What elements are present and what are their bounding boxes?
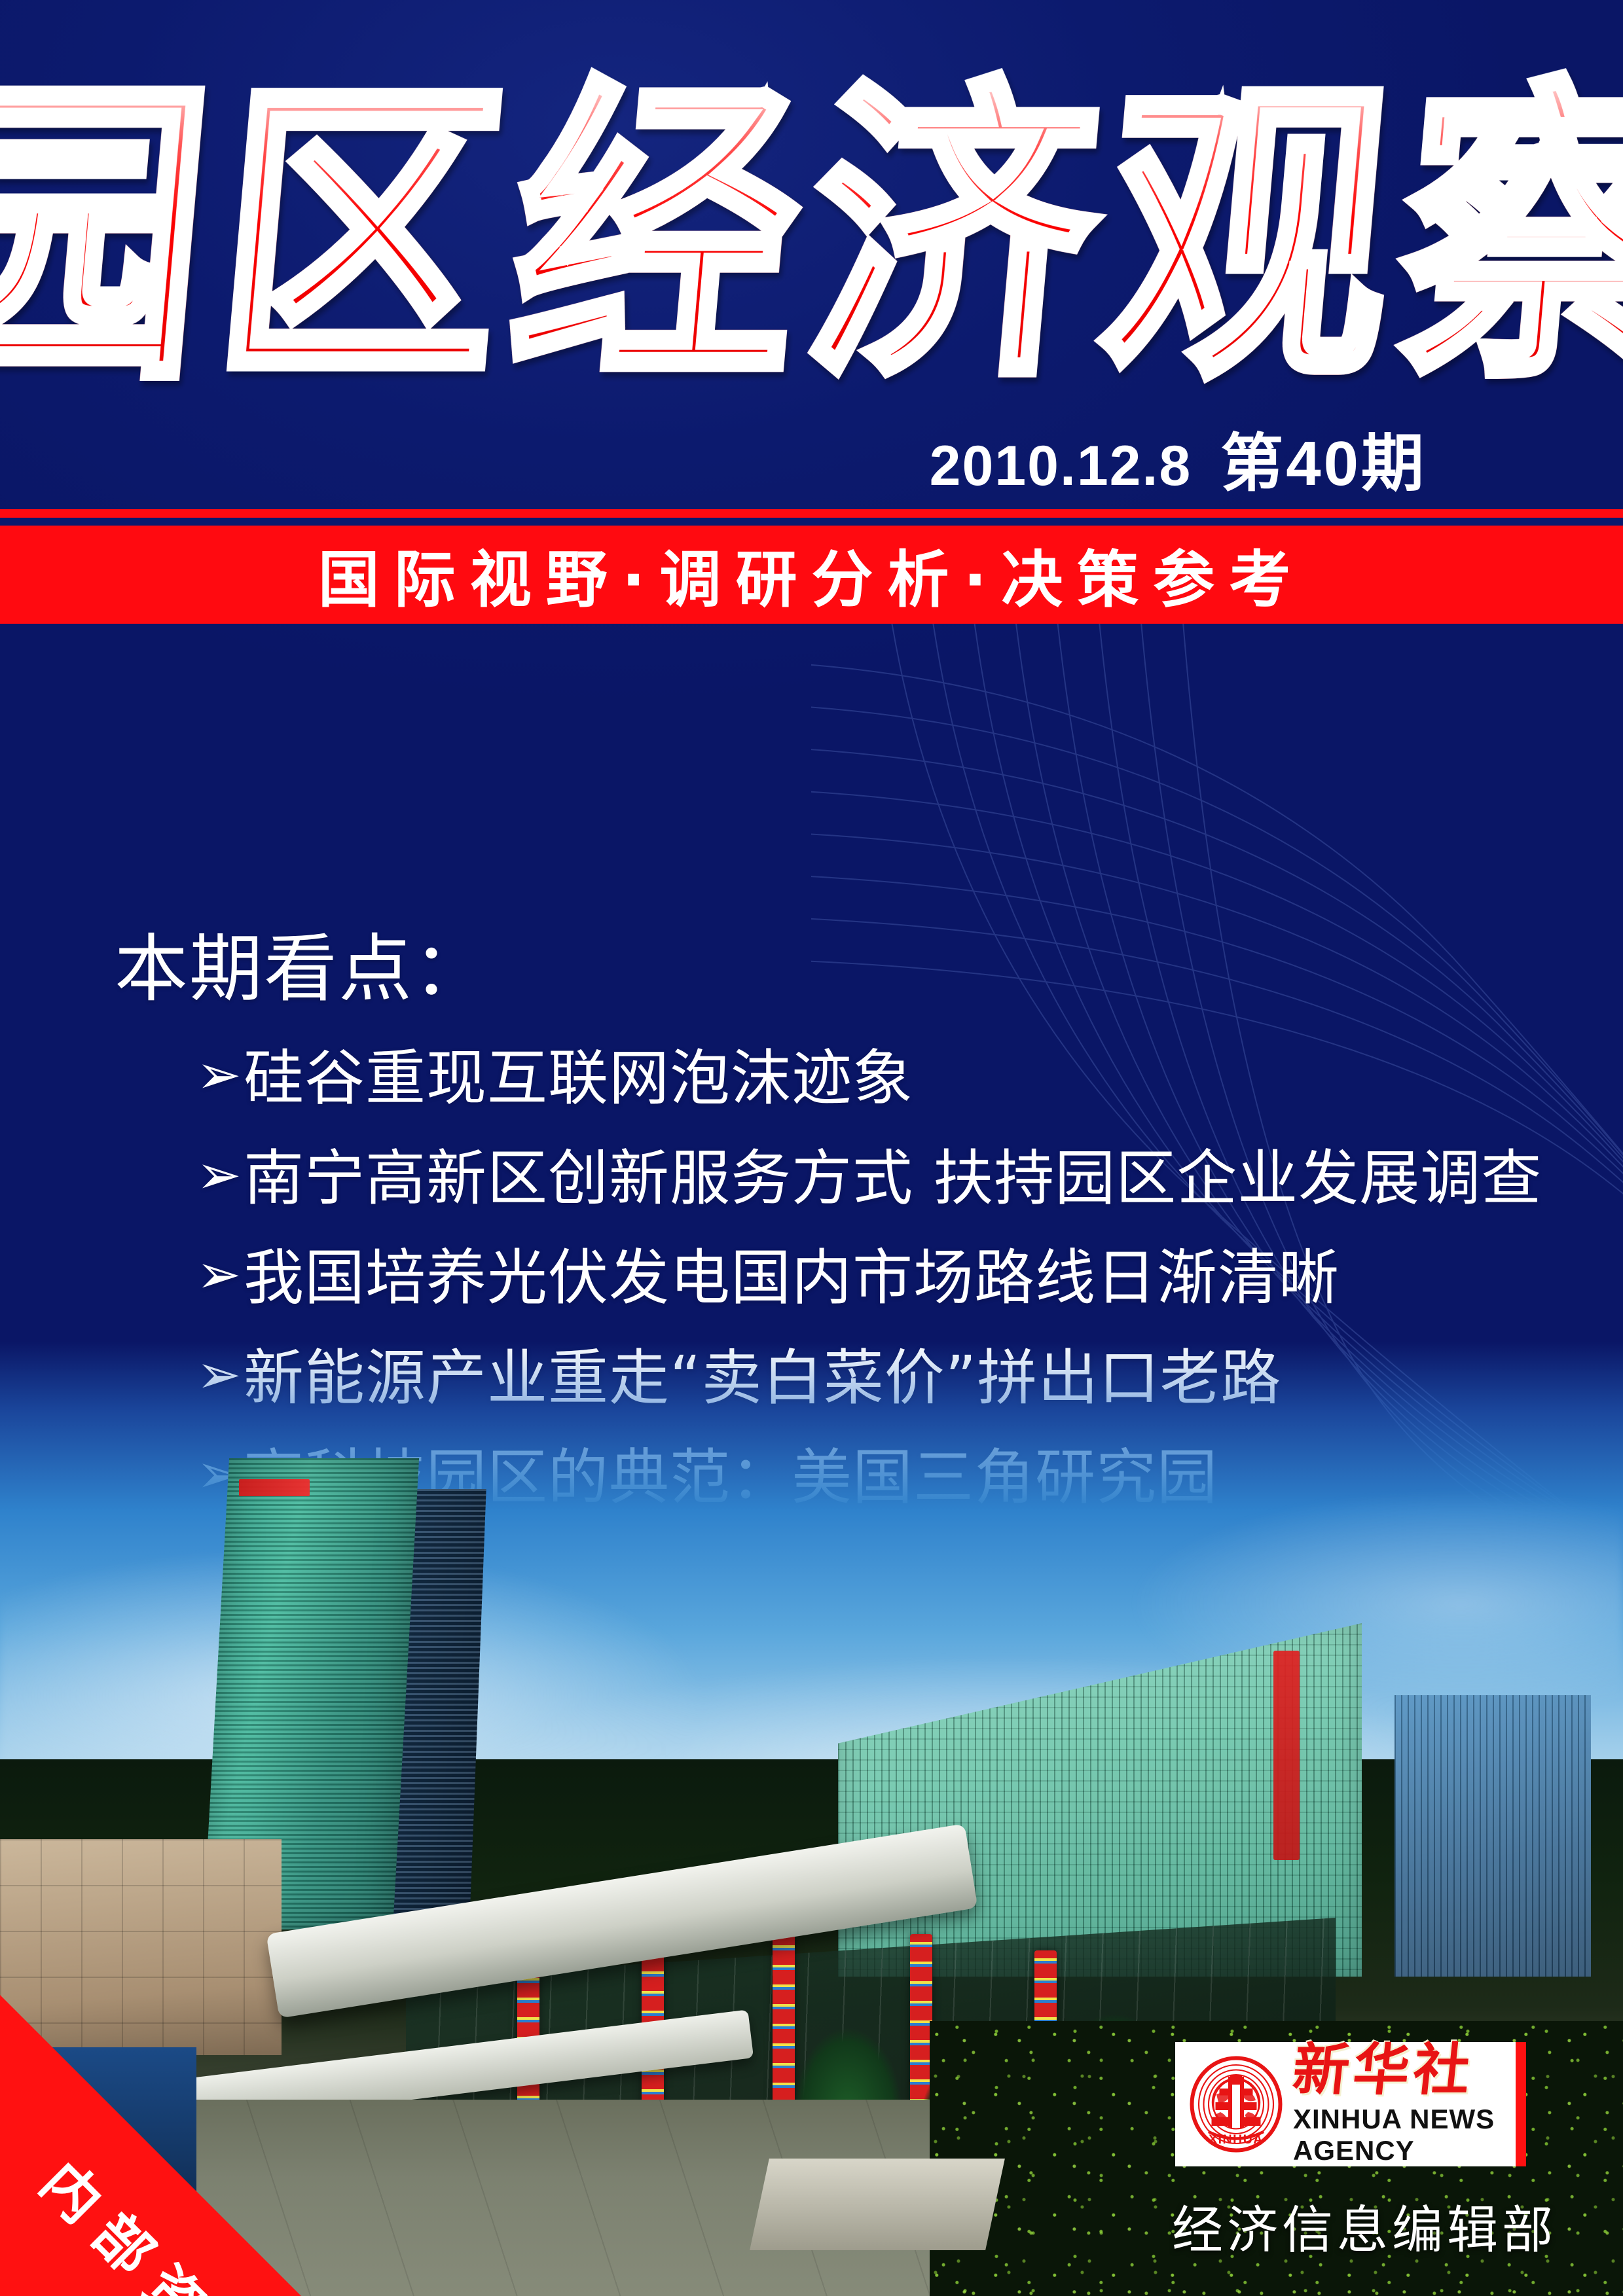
tagline-banner: 国际视野·调研分析·决策参考: [0, 526, 1623, 624]
building-vertical-sign: [1273, 1651, 1300, 1860]
xinhua-emblem-icon: XINHUA: [1187, 2055, 1285, 2153]
plaza-steps: [750, 2159, 1005, 2250]
arrow-bullet-icon: ➢: [196, 1047, 244, 1103]
xinhua-logo-chinese: 新华社: [1290, 2042, 1518, 2098]
divider-stripe-navy: [0, 518, 1623, 526]
xinhua-logo-english: XINHUA NEWS AGENCY: [1293, 2104, 1516, 2166]
magazine-title: 园区经济观察: [0, 78, 1623, 393]
list-item-label: 南宁高新区创新服务方式 扶持园区企业发展调查: [244, 1147, 1542, 1211]
magazine-cover: 园区经济观察 2010.12.8第40期 国际视野·调研分析·决策参考 本期看点…: [0, 0, 1623, 2296]
beige-low-building: [0, 1839, 282, 2055]
divider-stripe-red: [0, 509, 1623, 518]
xinhua-logo-block: XINHUA 新华社 XINHUA NEWS AGENCY: [1175, 2042, 1516, 2166]
list-item[interactable]: ➢ 南宁高新区创新服务方式 扶持园区企业发展调查: [196, 1147, 1623, 1211]
background-building: [1395, 1695, 1591, 1977]
tagline-text: 国际视野·调研分析·决策参考: [318, 530, 1305, 619]
tower-rooftop-sign: [239, 1479, 310, 1496]
highlights-heading: 本期看点：: [115, 910, 1623, 1016]
svg-text:XINHUA: XINHUA: [1209, 2132, 1264, 2147]
list-item[interactable]: ➢ 我国培养光伏发电国内市场路线日渐清晰: [196, 1247, 1623, 1310]
list-item-label: 硅谷重现互联网泡沫迹象: [244, 1047, 913, 1111]
list-item-label: 我国培养光伏发电国内市场路线日渐清晰: [244, 1247, 1340, 1310]
masthead: 园区经济观察: [0, 65, 1623, 406]
arrow-bullet-icon: ➢: [196, 1247, 244, 1303]
issue-line: 2010.12.8第40期: [930, 412, 1427, 503]
department-name: 经济信息编辑部: [1172, 2189, 1565, 2263]
arrow-bullet-icon: ➢: [196, 1147, 244, 1204]
list-item[interactable]: ➢ 硅谷重现互联网泡沫迹象: [196, 1047, 1623, 1111]
issue-number: 第40期: [1220, 429, 1427, 499]
issue-date: 2010.12.8: [930, 435, 1192, 497]
